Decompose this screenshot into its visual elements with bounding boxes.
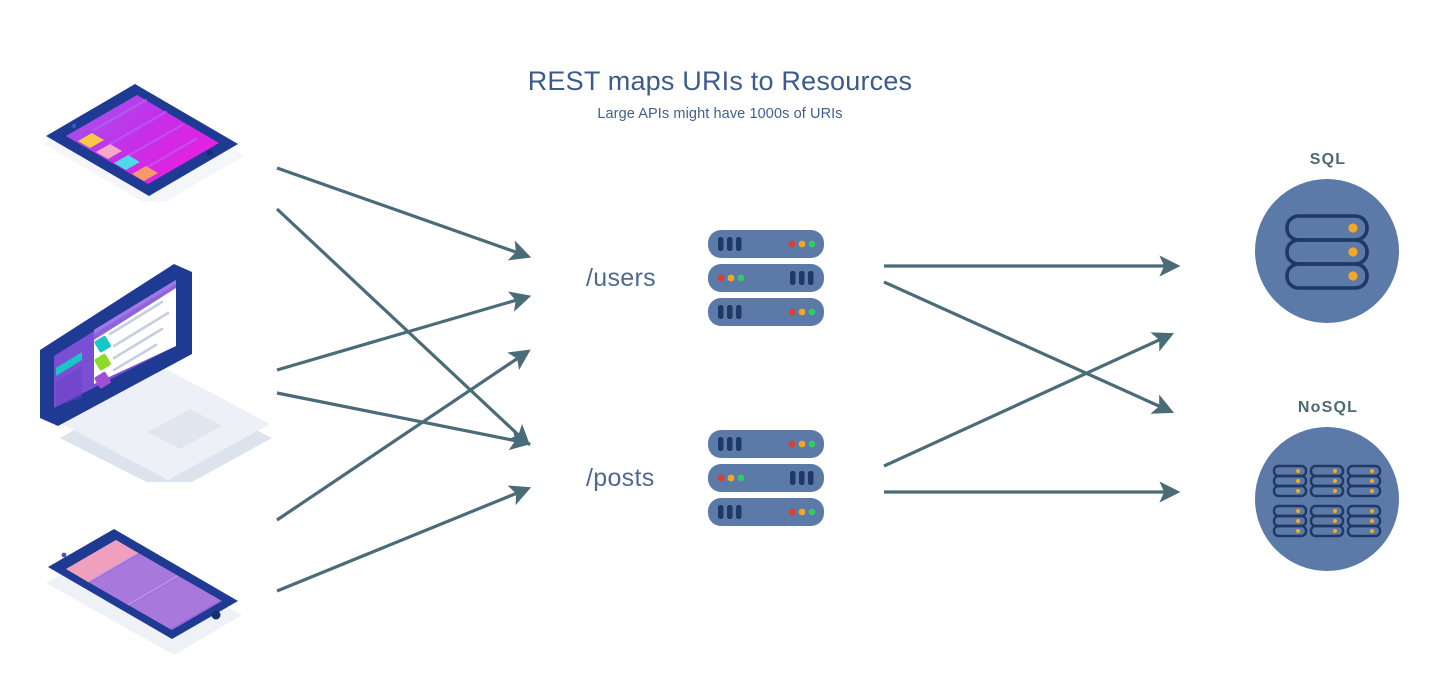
database-icon-sql — [1254, 178, 1400, 324]
database-label-sql: SQL — [1248, 151, 1408, 169]
arrow-users-to-nosql — [884, 282, 1170, 411]
diagram-canvas: REST maps URIs to Resources Large APIs m… — [0, 0, 1440, 678]
database-label-nosql: NoSQL — [1248, 399, 1408, 417]
server-stack-icon-posts — [706, 428, 826, 528]
resource-label-users: /users — [586, 264, 656, 293]
arrow-phone-to-posts — [277, 489, 527, 591]
server-stack-icon-users — [706, 228, 826, 328]
database-cluster-icon-nosql — [1254, 426, 1400, 572]
tablet-device-icon — [30, 52, 265, 202]
laptop-device-icon — [22, 242, 277, 482]
resource-label-posts: /posts — [586, 464, 655, 493]
arrow-laptop-to-users — [277, 297, 527, 370]
arrow-posts-to-sql — [884, 335, 1170, 466]
phone-device-icon — [28, 505, 263, 665]
